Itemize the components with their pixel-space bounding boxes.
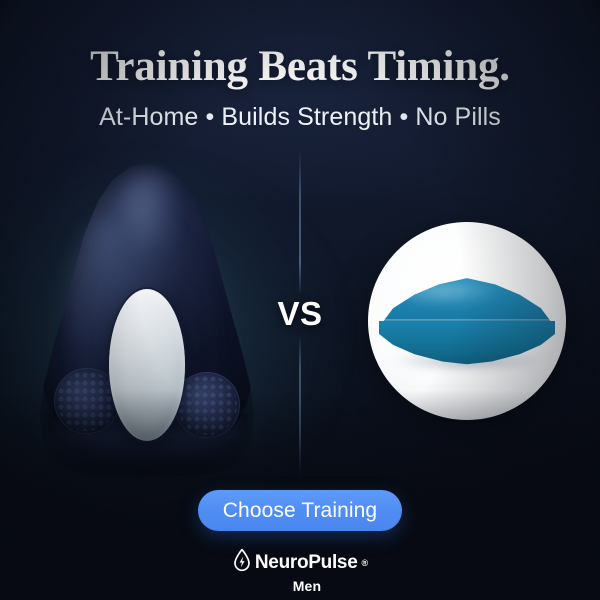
ad-creative: Training Beats Timing. At-Home • Builds … [0, 0, 600, 600]
registered-mark: ® [361, 558, 368, 568]
brand-lockup: NeuroPulse ® Men [0, 548, 600, 594]
cta-label: Choose Training [223, 499, 377, 523]
droplet-bolt-icon [232, 548, 252, 577]
choose-training-button[interactable]: Choose Training [198, 490, 402, 531]
brand-name: NeuroPulse [255, 553, 358, 573]
brand-name-row: NeuroPulse ® [232, 548, 368, 577]
brand-subline: Men [293, 578, 322, 594]
